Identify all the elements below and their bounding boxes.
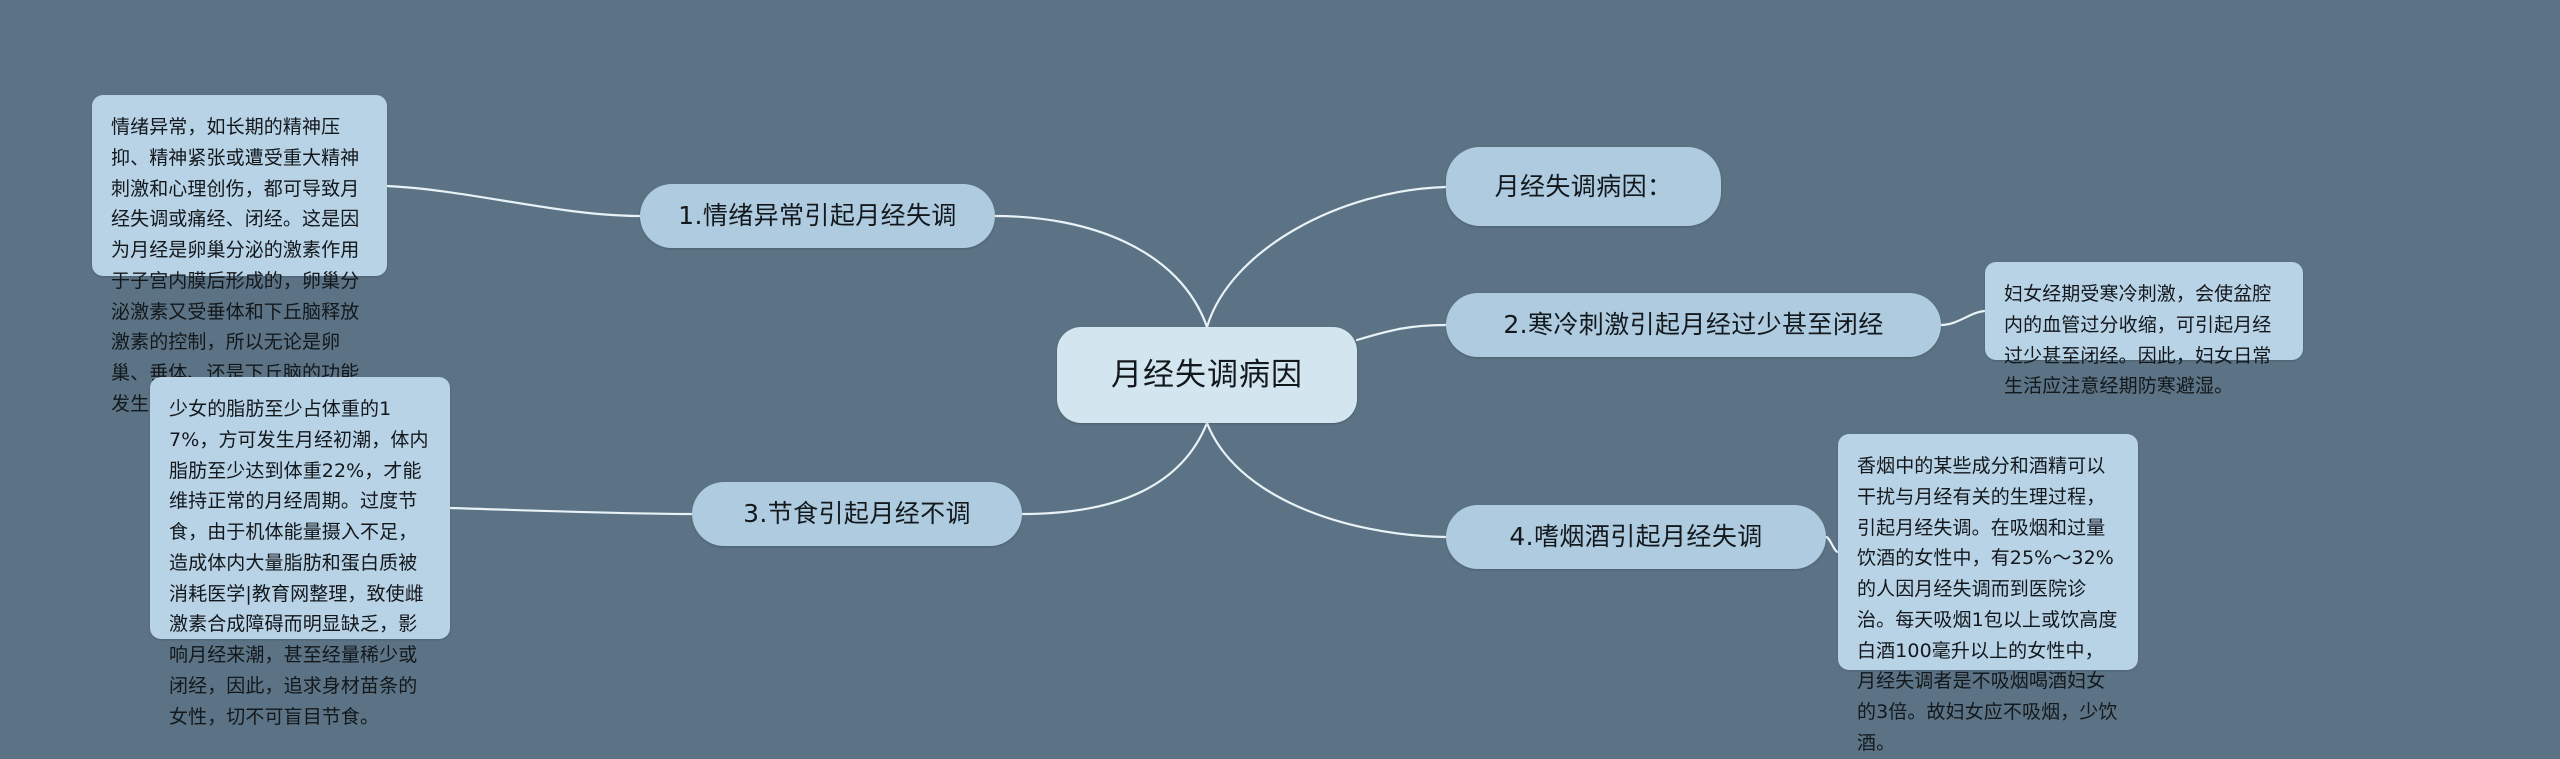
detail-box-2-cold[interactable]: 妇女经期受寒冷刺激，会使盆腔内的血管过分收缩，可引起月经过少甚至闭经。因此，妇女… (1985, 262, 2303, 360)
detail-text-3: 少女的脂肪至少占体重的17%，方可发生月经初潮，体内脂肪至少达到体重22%，才能… (169, 394, 431, 732)
link-root-to-branch4 (1207, 423, 1446, 537)
root-node[interactable]: 月经失调病因 (1057, 327, 1357, 423)
detail-text-1: 情绪异常，如长期的精神压抑、精神紧张或遭受重大精神刺激和心理创伤，都可导致月经失… (111, 112, 368, 420)
link-root-to-branch2 (1357, 325, 1446, 340)
detail-text-4: 香烟中的某些成分和酒精可以干扰与月经有关的生理过程，引起月经失调。在吸烟和过量饮… (1857, 451, 2119, 759)
detail-box-1-emotional[interactable]: 情绪异常，如长期的精神压抑、精神紧张或遭受重大精神刺激和心理创伤，都可导致月经失… (92, 95, 387, 276)
branch-node-1-emotional[interactable]: 1.情绪异常引起月经失调 (640, 184, 995, 248)
detail-box-4-smoking-drinking[interactable]: 香烟中的某些成分和酒精可以干扰与月经有关的生理过程，引起月经失调。在吸烟和过量饮… (1838, 434, 2138, 670)
link-root-to-title (1207, 187, 1446, 327)
link-root-to-branch3 (1022, 423, 1207, 514)
link-branch3-to-detail3 (450, 508, 692, 514)
link-root-to-branch1 (995, 216, 1207, 327)
mindmap-canvas: 月经失调病因 月经失调病因： 1.情绪异常引起月经失调 2.寒冷刺激引起月经过少… (0, 0, 2560, 754)
node-title-heading[interactable]: 月经失调病因： (1446, 147, 1721, 226)
branch-node-4-smoking-drinking[interactable]: 4.嗜烟酒引起月经失调 (1446, 505, 1826, 569)
detail-box-3-dieting[interactable]: 少女的脂肪至少占体重的17%，方可发生月经初潮，体内脂肪至少达到体重22%，才能… (150, 377, 450, 639)
branch-node-2-cold[interactable]: 2.寒冷刺激引起月经过少甚至闭经 (1446, 293, 1941, 357)
link-branch2-to-detail2 (1941, 311, 1985, 325)
link-branch4-to-detail4 (1826, 537, 1838, 552)
detail-text-2: 妇女经期受寒冷刺激，会使盆腔内的血管过分收缩，可引起月经过少甚至闭经。因此，妇女… (2004, 279, 2284, 402)
branch-node-3-dieting[interactable]: 3.节食引起月经不调 (692, 482, 1022, 546)
link-branch1-to-detail1 (387, 186, 640, 216)
